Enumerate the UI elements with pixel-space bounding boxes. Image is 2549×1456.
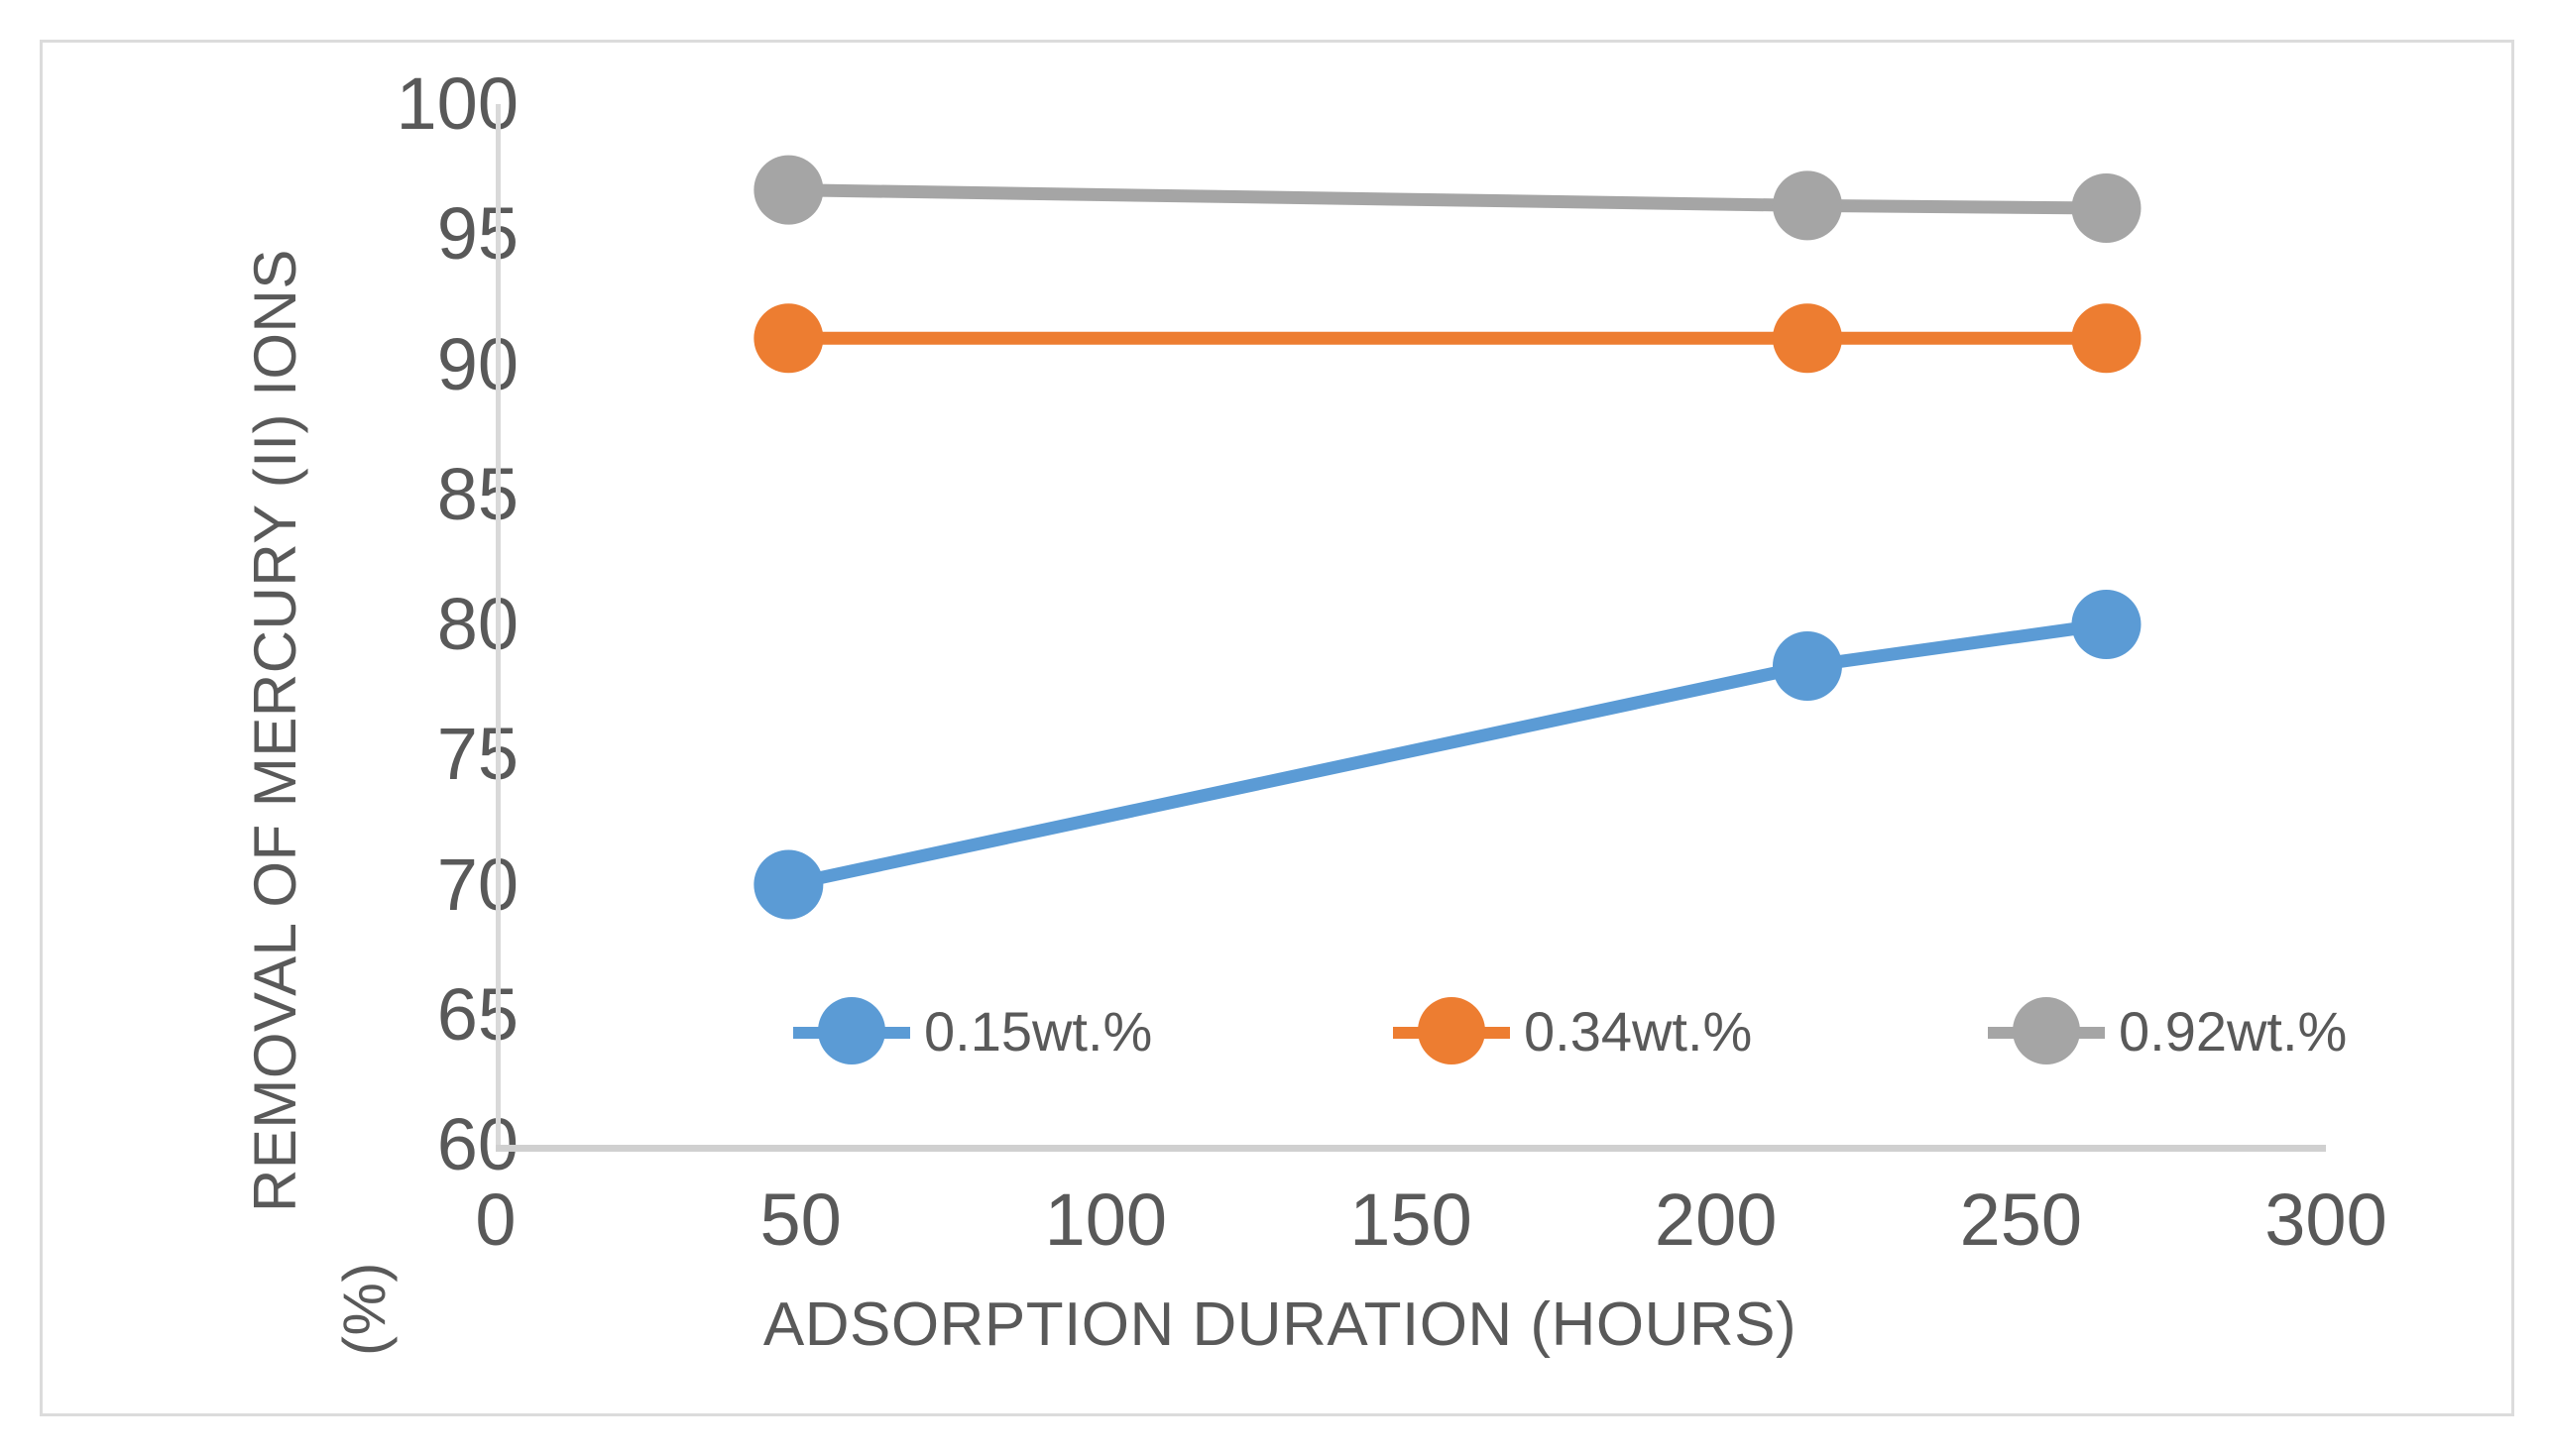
y-axis-tick-label: 75 [330, 718, 519, 791]
data-point-marker [1773, 170, 1842, 240]
legend-item-label: 0.15wt.% [924, 999, 1152, 1064]
y-axis-tick-label: 80 [330, 588, 519, 661]
y-axis-tick-label: 95 [330, 197, 519, 271]
data-point-marker [753, 850, 823, 920]
y-axis-tick-label: 70 [330, 848, 519, 922]
x-axis-tick-label: 50 [672, 1173, 930, 1268]
data-point-marker [753, 156, 823, 225]
legend-item[interactable]: 0.34wt.% [1393, 976, 1752, 1085]
x-axis-title: ADSORPTION DURATION (HOURS) [43, 1289, 2517, 1360]
plot-area: 0.15wt.%0.34wt.%0.92wt.% [496, 104, 2326, 1145]
legend-item[interactable]: 0.92wt.% [1988, 976, 2347, 1085]
y-axis-tick-label: 90 [330, 328, 519, 401]
y-axis-title: REMOVAL OF MERCURY (II) IONS (%) [102, 43, 320, 1291]
y-axis-tick-label: 65 [330, 978, 519, 1052]
legend-item[interactable]: 0.15wt.% [793, 976, 1152, 1085]
y-axis-title-main: REMOVAL OF MERCURY (II) IONS [241, 249, 309, 1212]
y-axis-tick-label: 85 [330, 458, 519, 531]
legend-item-label: 0.34wt.% [1524, 999, 1752, 1064]
data-point-marker [2071, 590, 2141, 659]
chart-frame: REMOVAL OF MERCURY (II) IONS (%) 6065707… [40, 40, 2514, 1416]
x-axis-tick-label: 250 [1892, 1173, 2149, 1268]
series-line-0.92wt.% [788, 190, 2106, 208]
x-axis-tick-label: 200 [1587, 1173, 1845, 1268]
legend-marker-icon [1393, 1020, 1510, 1042]
y-axis-tick-label: 100 [330, 67, 519, 141]
data-point-marker [1773, 303, 1842, 373]
data-point-marker [2071, 303, 2141, 373]
legend-marker-icon [793, 1020, 910, 1042]
data-point-marker [753, 303, 823, 373]
x-axis-tick-label: 300 [2197, 1173, 2455, 1268]
x-axis-line [496, 1145, 2326, 1152]
y-axis-tick-label: 60 [330, 1108, 519, 1181]
series-line-0.15wt.% [788, 624, 2106, 885]
data-point-marker [2071, 173, 2141, 243]
x-axis-tick-label: 100 [977, 1173, 1234, 1268]
data-point-marker [1773, 631, 1842, 701]
x-axis-tick-label: 150 [1282, 1173, 1540, 1268]
legend: 0.15wt.%0.34wt.%0.92wt.% [793, 976, 2429, 1085]
legend-item-label: 0.92wt.% [2119, 999, 2347, 1064]
x-axis-tick-labels: 050100150200250300 [496, 1173, 2379, 1282]
legend-marker-icon [1988, 1020, 2105, 1042]
y-axis-tick-labels: 6065707580859095100 [330, 43, 519, 1192]
x-axis-tick-label: 0 [367, 1173, 625, 1268]
